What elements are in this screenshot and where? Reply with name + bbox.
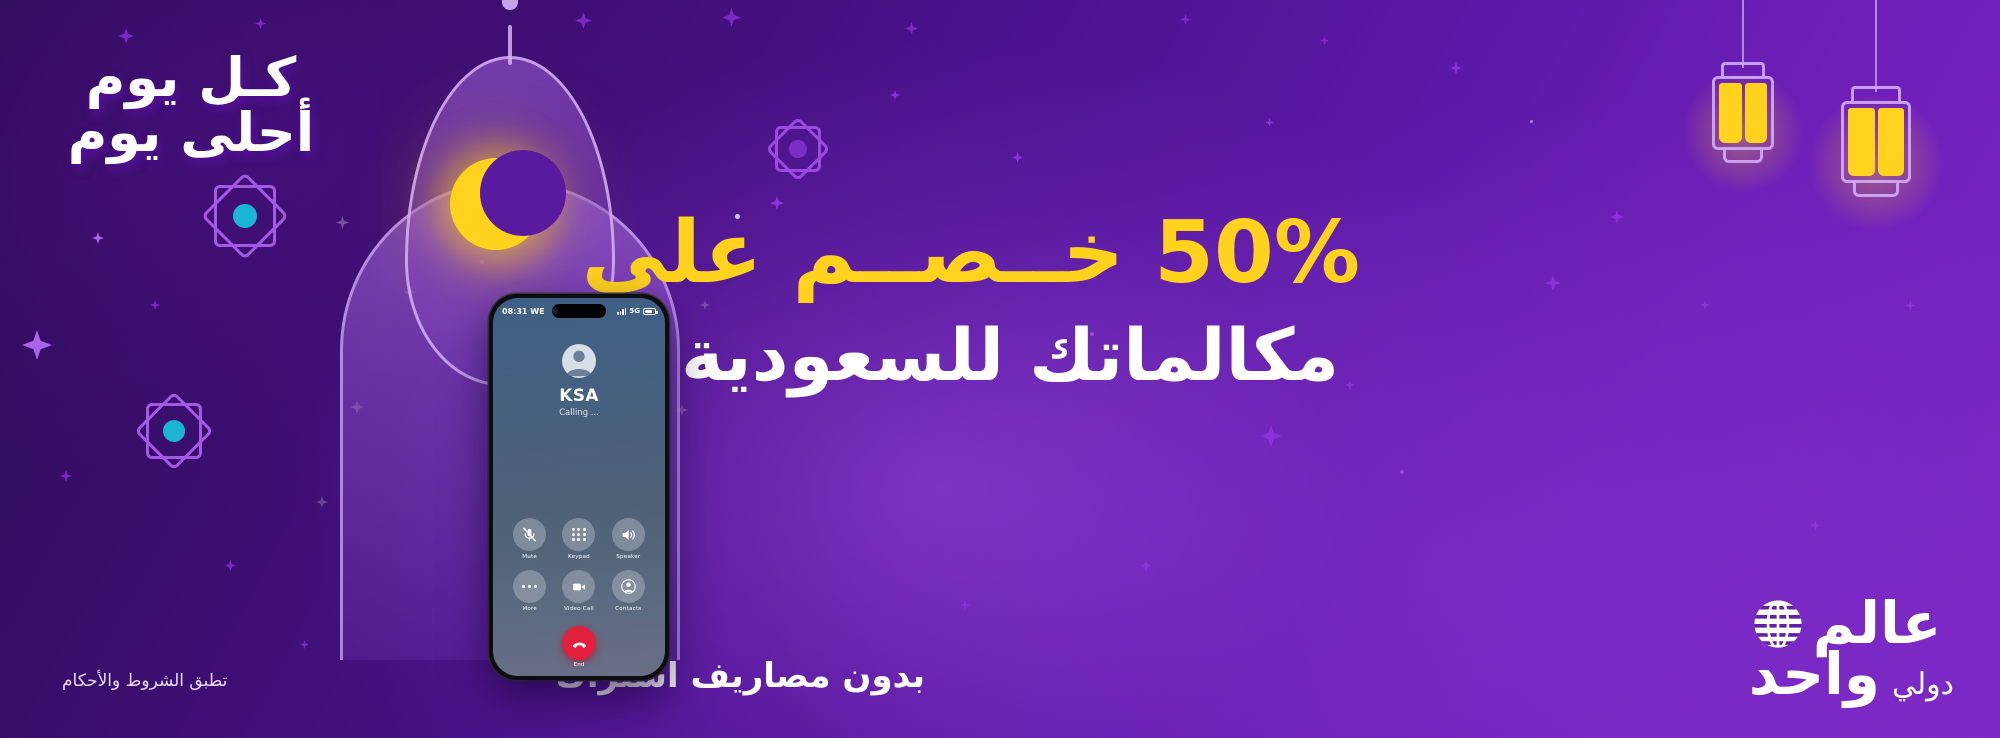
offer-subheadline: مكالماتك للسعودية	[660, 316, 1360, 395]
crescent-moon-icon	[450, 158, 542, 250]
more-button[interactable]: More	[505, 570, 554, 612]
keypad-label: Keypad	[568, 554, 590, 560]
signal-bars-icon	[617, 308, 626, 315]
campaign-slogan: كـل يوم أحلى يوم	[56, 52, 326, 160]
slogan-line-2: أحلى يوم	[56, 107, 326, 160]
status-bar-time: 08:31 WE	[502, 307, 545, 316]
end-call-label: End	[493, 662, 665, 668]
video-call-label: Video Call	[564, 606, 594, 612]
brand-word-3: دولي	[1892, 667, 1954, 702]
keypad-icon	[562, 518, 595, 551]
phone-screen: 08:31 WE 5G KSA Calling ...	[493, 298, 665, 676]
call-status: Calling ...	[493, 408, 665, 418]
video-call-button[interactable]: Video Call	[554, 570, 603, 612]
network-label: 5G	[629, 307, 640, 315]
speaker-button[interactable]: Speaker	[604, 518, 653, 560]
video-camera-icon	[562, 570, 595, 603]
microphone-muted-icon	[513, 518, 546, 551]
speaker-label: Speaker	[616, 554, 640, 560]
lantern-icon	[1700, 0, 1786, 220]
phone-mockup: 08:31 WE 5G KSA Calling ...	[489, 294, 669, 680]
keypad-button[interactable]: Keypad	[554, 518, 603, 560]
contacts-label: Contacts	[615, 606, 641, 612]
phone-notch	[552, 304, 606, 318]
speaker-icon	[612, 518, 645, 551]
mute-button[interactable]: Mute	[505, 518, 554, 560]
terms-and-conditions-note: تطبق الشروط والأحكام	[62, 671, 227, 691]
offer-headline: 50% خــصــم علي	[660, 208, 1360, 298]
ellipsis-icon	[513, 570, 546, 603]
battery-icon	[643, 308, 656, 315]
end-call-button[interactable]	[562, 626, 596, 660]
more-label: More	[522, 606, 537, 612]
lantern-icon	[1828, 0, 1924, 250]
front-camera-icon	[552, 308, 558, 314]
user-avatar-icon	[562, 344, 596, 378]
geometric-rosette-icon	[214, 185, 276, 247]
contacts-button[interactable]: Contacts	[604, 570, 653, 612]
call-info: KSA Calling ...	[493, 344, 665, 418]
geometric-rosette-icon	[775, 126, 821, 172]
call-controls: Mute Keypad Sp	[493, 518, 665, 612]
contacts-icon	[612, 570, 645, 603]
phone-hangup-icon	[571, 635, 588, 652]
mute-label: Mute	[522, 554, 537, 560]
promo-banner: كـل يوم أحلى يوم 50% خــصــم علي مكالمات…	[0, 0, 2000, 738]
headline-block: 50% خــصــم علي مكالماتك للسعودية	[660, 208, 1360, 395]
caller-name: KSA	[493, 386, 665, 406]
geometric-rosette-icon	[146, 403, 202, 459]
slogan-line-1: كـل يوم	[56, 52, 326, 105]
brand-logo: عالم دولي واح	[1749, 595, 1954, 702]
brand-word-2: واحد	[1749, 647, 1880, 702]
